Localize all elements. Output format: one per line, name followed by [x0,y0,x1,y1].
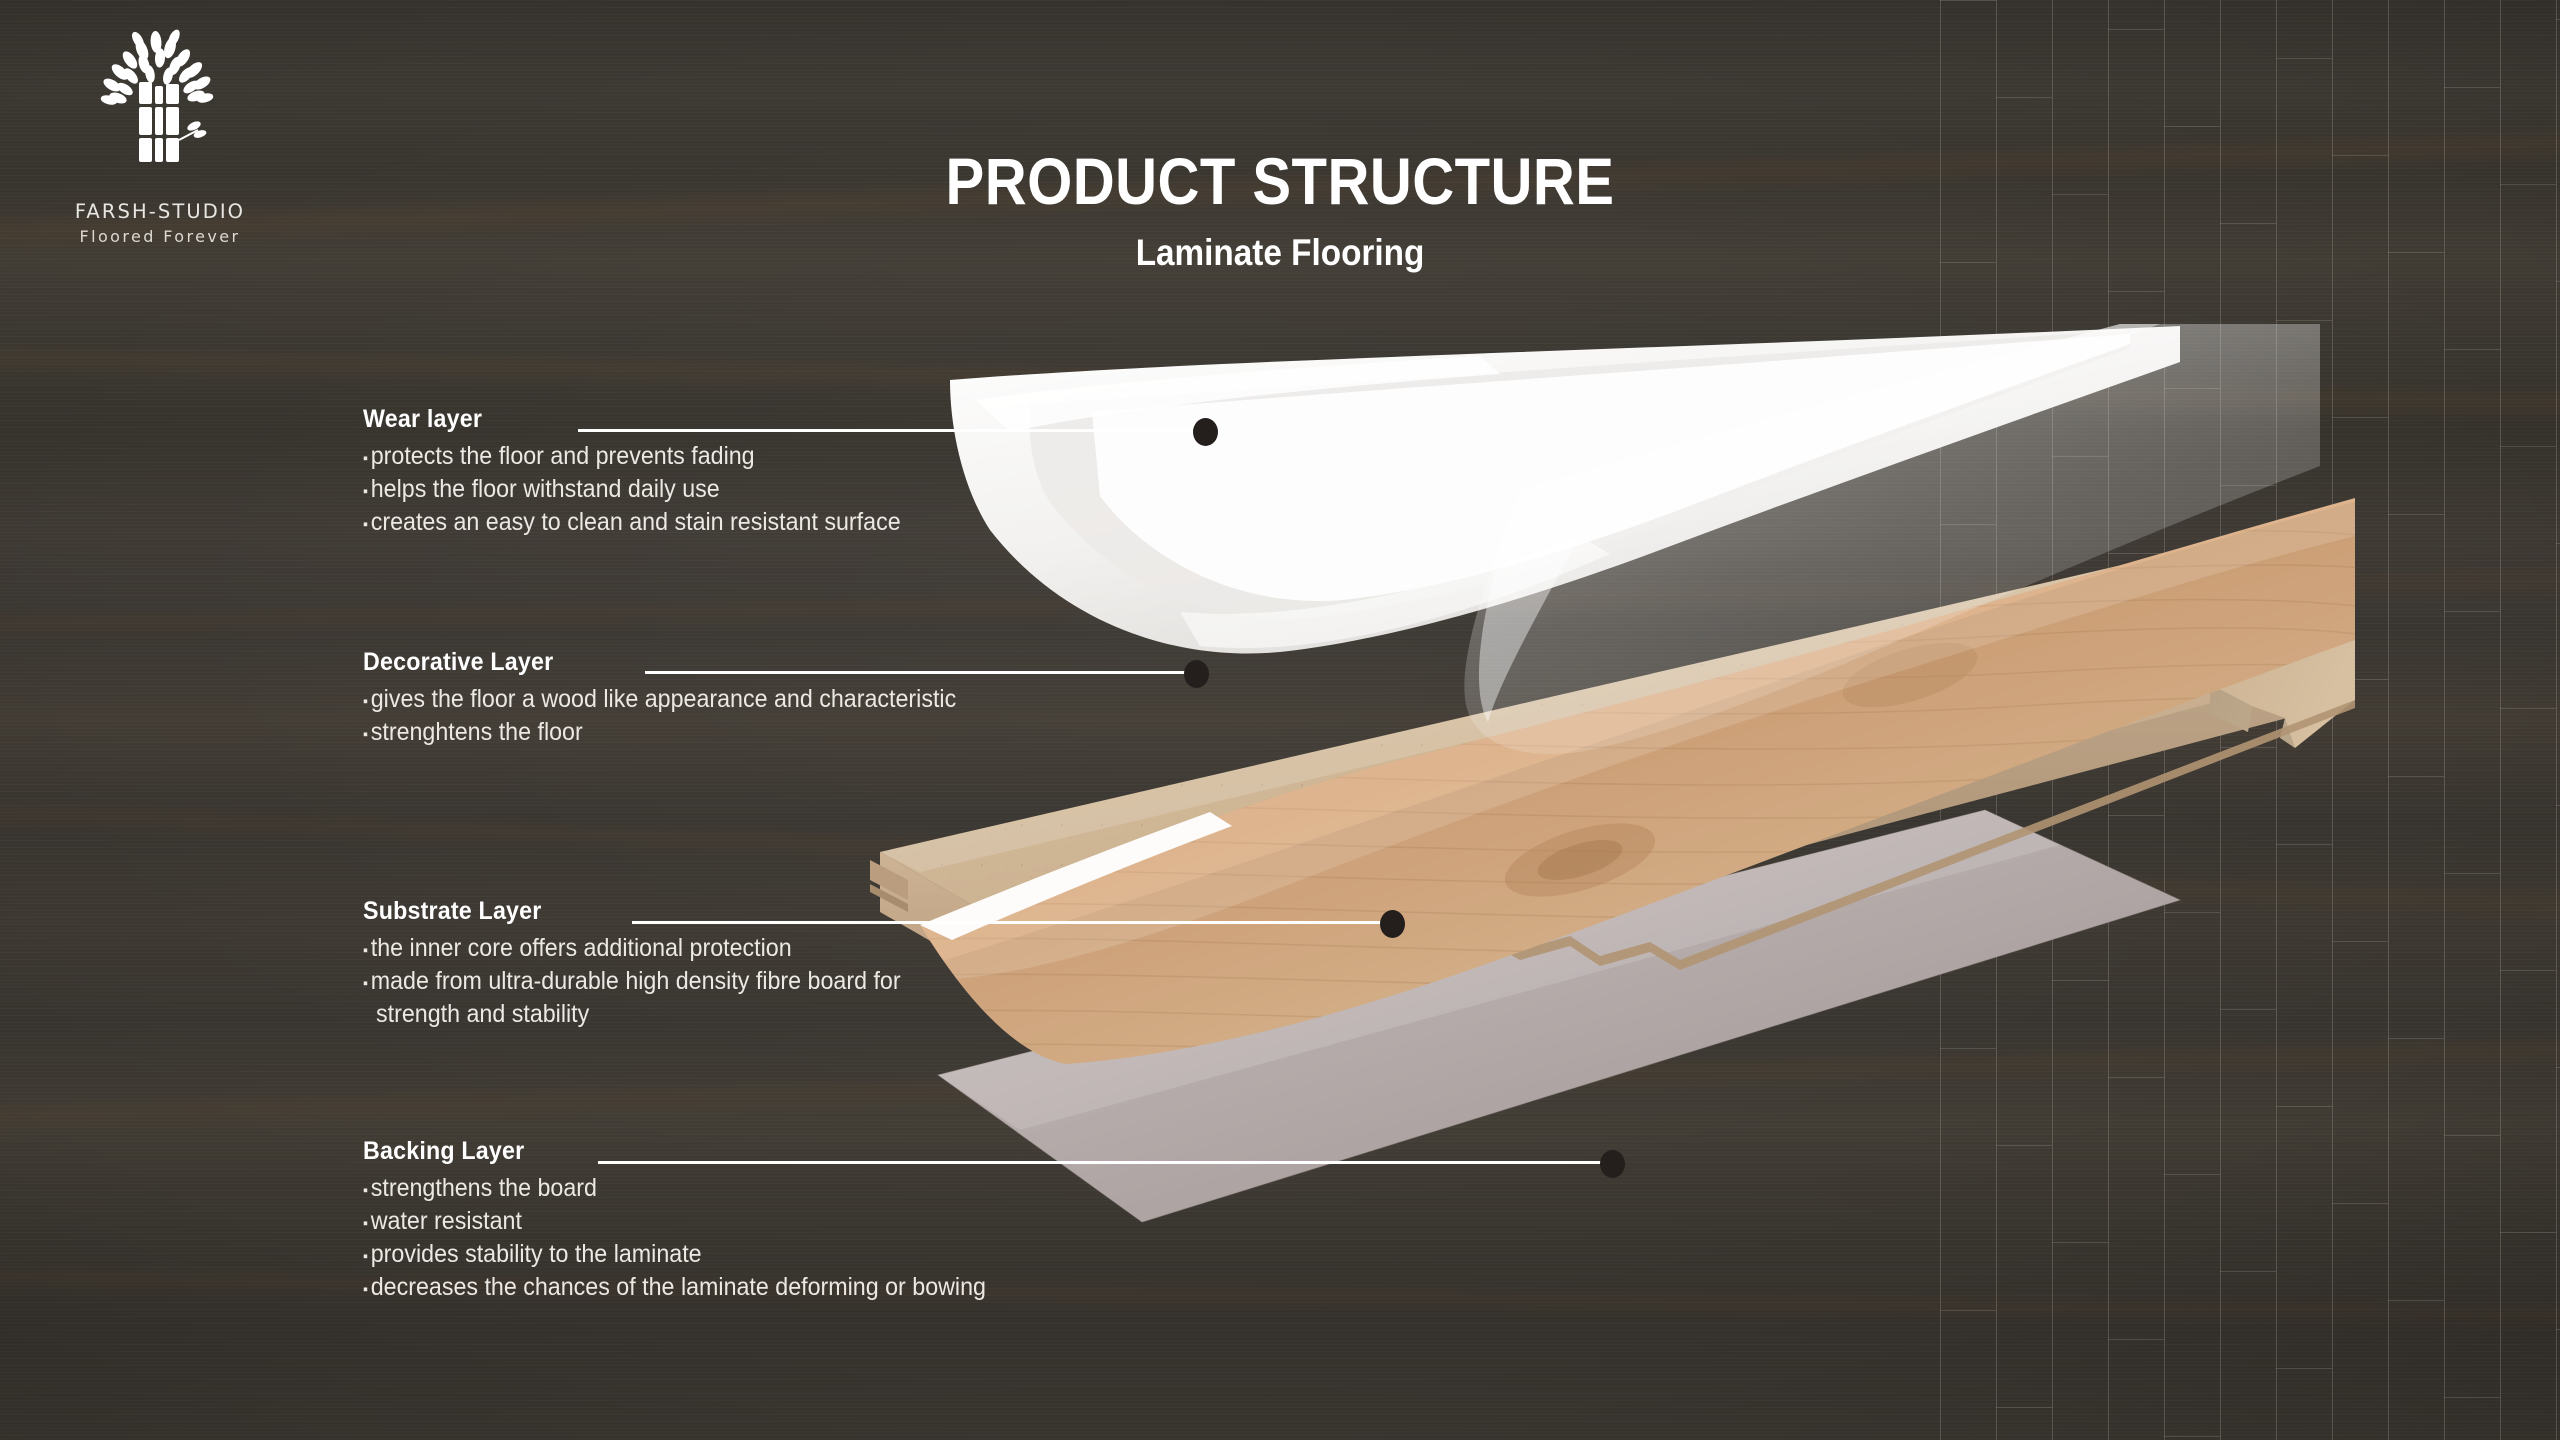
plank-grid-line-horizontal [1996,1407,2052,1408]
plank-grid-line-horizontal [2388,1300,2444,1301]
plank-grid-line-horizontal [2556,281,2560,282]
plank-grid-line-horizontal [2108,291,2164,292]
callout-bullet: protects the floor and prevents fading [363,440,958,473]
callout-bullets: the inner core offers additional protect… [363,932,1023,1032]
callout-title: Decorative Layer [363,649,958,677]
callout-bullet: strenghtens the floor [363,716,958,749]
plank-grid-line-horizontal [2556,19,2560,20]
page-title-block: PRODUCT STRUCTURE Laminate Flooring [0,148,2560,271]
plank-grid-line-horizontal [2500,708,2556,709]
callout-backing-layer: Backing Layer strengthens the board wate… [363,1138,1263,1305]
plank-grid-line-horizontal [2556,1067,2560,1068]
callout-bullet: gives the floor a wood like appearance a… [363,683,958,716]
callout-bullet: decreases the chances of the laminate de… [363,1271,1200,1304]
plank-grid-line-horizontal [2108,29,2164,30]
callout-decorative-layer: Decorative Layer gives the floor a wood … [363,649,1003,749]
plank-grid-line-horizontal [2276,58,2332,59]
plank-grid-line-horizontal [2444,1135,2500,1136]
callout-bullet: strengthens the board [363,1172,1200,1205]
callout-bullet: provides stability to the laminate [363,1238,1200,1271]
plank-grid-line-horizontal [2276,320,2332,321]
callout-dot-backing-layer [1600,1150,1625,1178]
plank-grid-line-horizontal [2444,87,2500,88]
plank-grid-line-horizontal [2500,1232,2556,1233]
callout-dot-decorative-layer [1184,660,1209,688]
callout-bullet: the inner core offers additional protect… [363,932,977,965]
page-title: PRODUCT STRUCTURE [154,148,2407,214]
plank-grid-line-horizontal [2556,1329,2560,1330]
callout-bullets: gives the floor a wood like appearance a… [363,683,1003,750]
callout-bullets: protects the floor and prevents fading h… [363,440,1003,540]
plank-grid-line-horizontal [2500,970,2556,971]
plank-grid-line-horizontal [1996,97,2052,98]
exploded-laminate-diagram [880,340,2440,1260]
callout-title: Substrate Layer [363,898,977,926]
callout-bullet: water resistant [363,1205,1200,1238]
callout-title: Backing Layer [363,1138,1200,1166]
page-subtitle: Laminate Flooring [128,234,2432,271]
callout-bullet: helps the floor withstand daily use [363,473,958,506]
plank-grid-line-horizontal [1940,0,1996,1]
plank-grid-line-horizontal [2556,543,2560,544]
plank-grid-line-horizontal [2108,1339,2164,1340]
callout-bullet: creates an easy to clean and stain resis… [363,506,958,539]
callout-dot-substrate-layer [1380,910,1405,938]
plank-grid-line-horizontal [2164,126,2220,127]
plank-grid-line-horizontal [2220,1271,2276,1272]
callout-dot-wear-layer [1193,418,1218,446]
callout-substrate-layer: Substrate Layer the inner core offers ad… [363,898,1023,1031]
plank-grid-line-horizontal [2444,611,2500,612]
callout-bullet: made from ultra-durable high density fib… [363,965,977,1032]
plank-grid-line-horizontal [2500,446,2556,447]
plank-grid-line-horizontal [2276,1368,2332,1369]
plank-grid-line-horizontal [2556,805,2560,806]
callout-bullets: strengthens the board water resistant pr… [363,1172,1263,1305]
plank-grid-line-horizontal [2164,1436,2220,1437]
callout-wear-layer: Wear layer protects the floor and preven… [363,406,1003,539]
infographic-canvas: FARSH-STUDIO Floored Forever PRODUCT STR… [0,0,2560,1440]
plank-grid-line-horizontal [2444,873,2500,874]
plank-grid-line-horizontal [2444,1397,2500,1398]
callout-title: Wear layer [363,406,958,434]
plank-grid-line-horizontal [1940,1310,1996,1311]
plank-grid-line-horizontal [2444,349,2500,350]
